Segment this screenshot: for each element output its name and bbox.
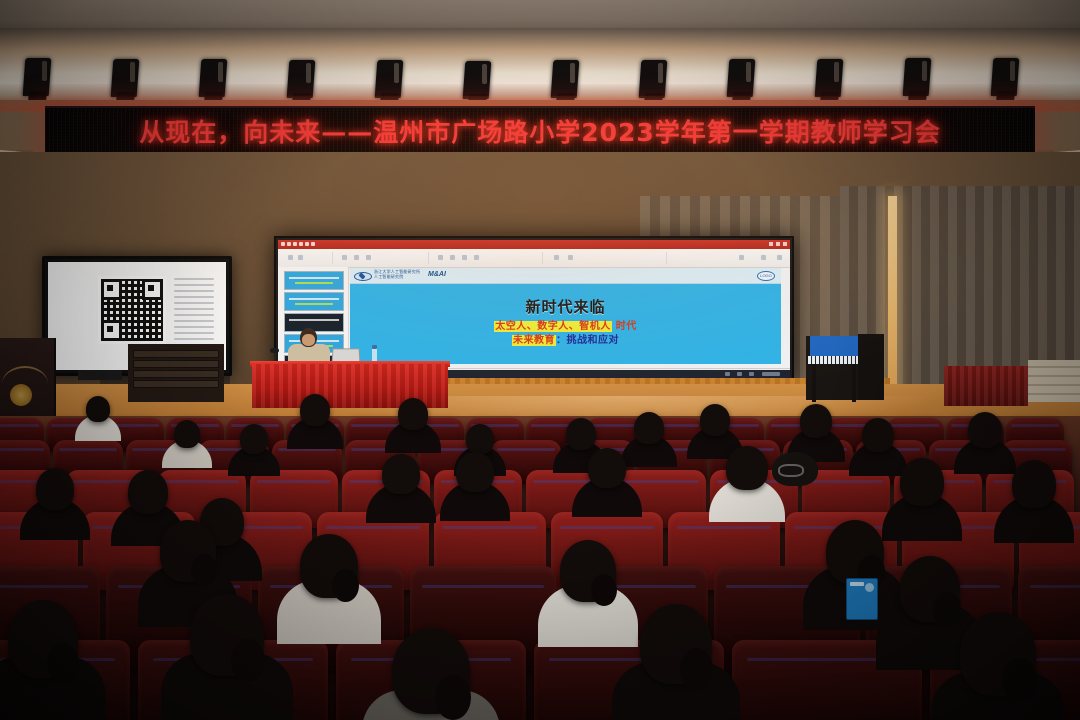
- slide-subtitle-1: 太空人、数字人、智机人 时代: [350, 317, 781, 332]
- audience-head: [240, 424, 268, 454]
- audience-head: [466, 424, 494, 454]
- audience-head: [566, 418, 596, 450]
- school-emblem-icon: [10, 384, 32, 406]
- slide-header-band: 浙江大学人工智能研究所 人工智能研究院 M&AI LOGO: [350, 268, 781, 284]
- slide-title: 新时代来临: [350, 296, 781, 317]
- audience-hair: [591, 574, 617, 606]
- audience-head: [456, 452, 494, 492]
- audience-head: [86, 396, 110, 422]
- ribbon-toolbar[interactable]: [278, 249, 790, 268]
- audience-head: [900, 458, 944, 506]
- slide-thumbnail[interactable]: [284, 271, 344, 290]
- qr-display-sidelist: [174, 278, 214, 350]
- audience-head: [700, 404, 730, 436]
- window-controls[interactable]: [769, 242, 787, 246]
- audience-head: [634, 412, 664, 444]
- qr-code-icon: [98, 276, 166, 344]
- audience-cap: [772, 452, 818, 486]
- institute-logo-text: 浙江大学人工智能研究所 人工智能研究院: [374, 270, 420, 279]
- audience-head: [968, 412, 1002, 448]
- slide-thumbnail[interactable]: [284, 292, 344, 311]
- pillar-light-strip: [888, 196, 897, 396]
- audience-head: [36, 468, 74, 510]
- piano-keys: [808, 356, 860, 364]
- av-equipment-rack: [128, 344, 224, 402]
- slide-subtitle-2: 未来教育：挑战和应对: [350, 331, 781, 346]
- draped-table-right: [944, 366, 1028, 406]
- audience-hair: [47, 643, 79, 684]
- water-bottle-cap: [372, 345, 377, 349]
- audience-head: [862, 418, 894, 452]
- audience-hair: [1002, 658, 1037, 702]
- audience-hair: [435, 675, 471, 720]
- audience-head: [800, 404, 832, 438]
- window-titlebar: [278, 240, 790, 249]
- handheld-booklet: [846, 578, 878, 620]
- active-slide: 浙江大学人工智能研究所 人工智能研究院 M&AI LOGO 新时代来临 太空人、…: [350, 268, 781, 364]
- tv-stand: [78, 370, 122, 380]
- stage-speaker-right: [858, 334, 884, 400]
- audience-head: [726, 446, 768, 490]
- slide-subtitle-2-highlight: 未来教育: [512, 335, 556, 346]
- microphone-icon: [270, 348, 279, 353]
- slide-thumbnail[interactable]: [284, 313, 344, 332]
- institute-logo-icon: [354, 271, 370, 280]
- piano-display: [810, 336, 858, 356]
- audience-head: [128, 470, 168, 514]
- audience-hair: [191, 554, 217, 586]
- audience-head: [1012, 460, 1056, 508]
- lectern-school-name-arc: [2, 366, 48, 384]
- audience-hair: [332, 569, 359, 602]
- audience-head: [174, 420, 200, 448]
- slide-corner-badge: LOGO: [757, 271, 775, 281]
- piano-leg: [852, 364, 856, 402]
- audience-head: [588, 448, 626, 488]
- audience-hair: [231, 639, 265, 682]
- audience-head: [382, 454, 420, 494]
- led-banner: 从现在，向未来——温州市广场路小学2023学年第一学期教师学习会: [45, 106, 1035, 156]
- quick-access-toolbar[interactable]: [281, 242, 315, 246]
- led-banner-text: 从现在，向未来——温州市广场路小学2023学年第一学期教师学习会: [45, 113, 1035, 149]
- audience-hair: [680, 648, 713, 690]
- audience-hair: [933, 592, 961, 626]
- stacked-boxes-right: [1028, 360, 1080, 402]
- presenter-face: [302, 334, 315, 346]
- piano-leg: [812, 364, 816, 402]
- slide-subtitle-2-tail: ：挑战和应对: [556, 335, 619, 346]
- logo-mai-mark: M&AI: [428, 271, 446, 278]
- auditorium-photo: 从现在，向未来——温州市广场路小学2023学年第一学期教师学习会: [0, 0, 1080, 720]
- audience-head: [398, 398, 428, 430]
- audience-head: [300, 394, 330, 426]
